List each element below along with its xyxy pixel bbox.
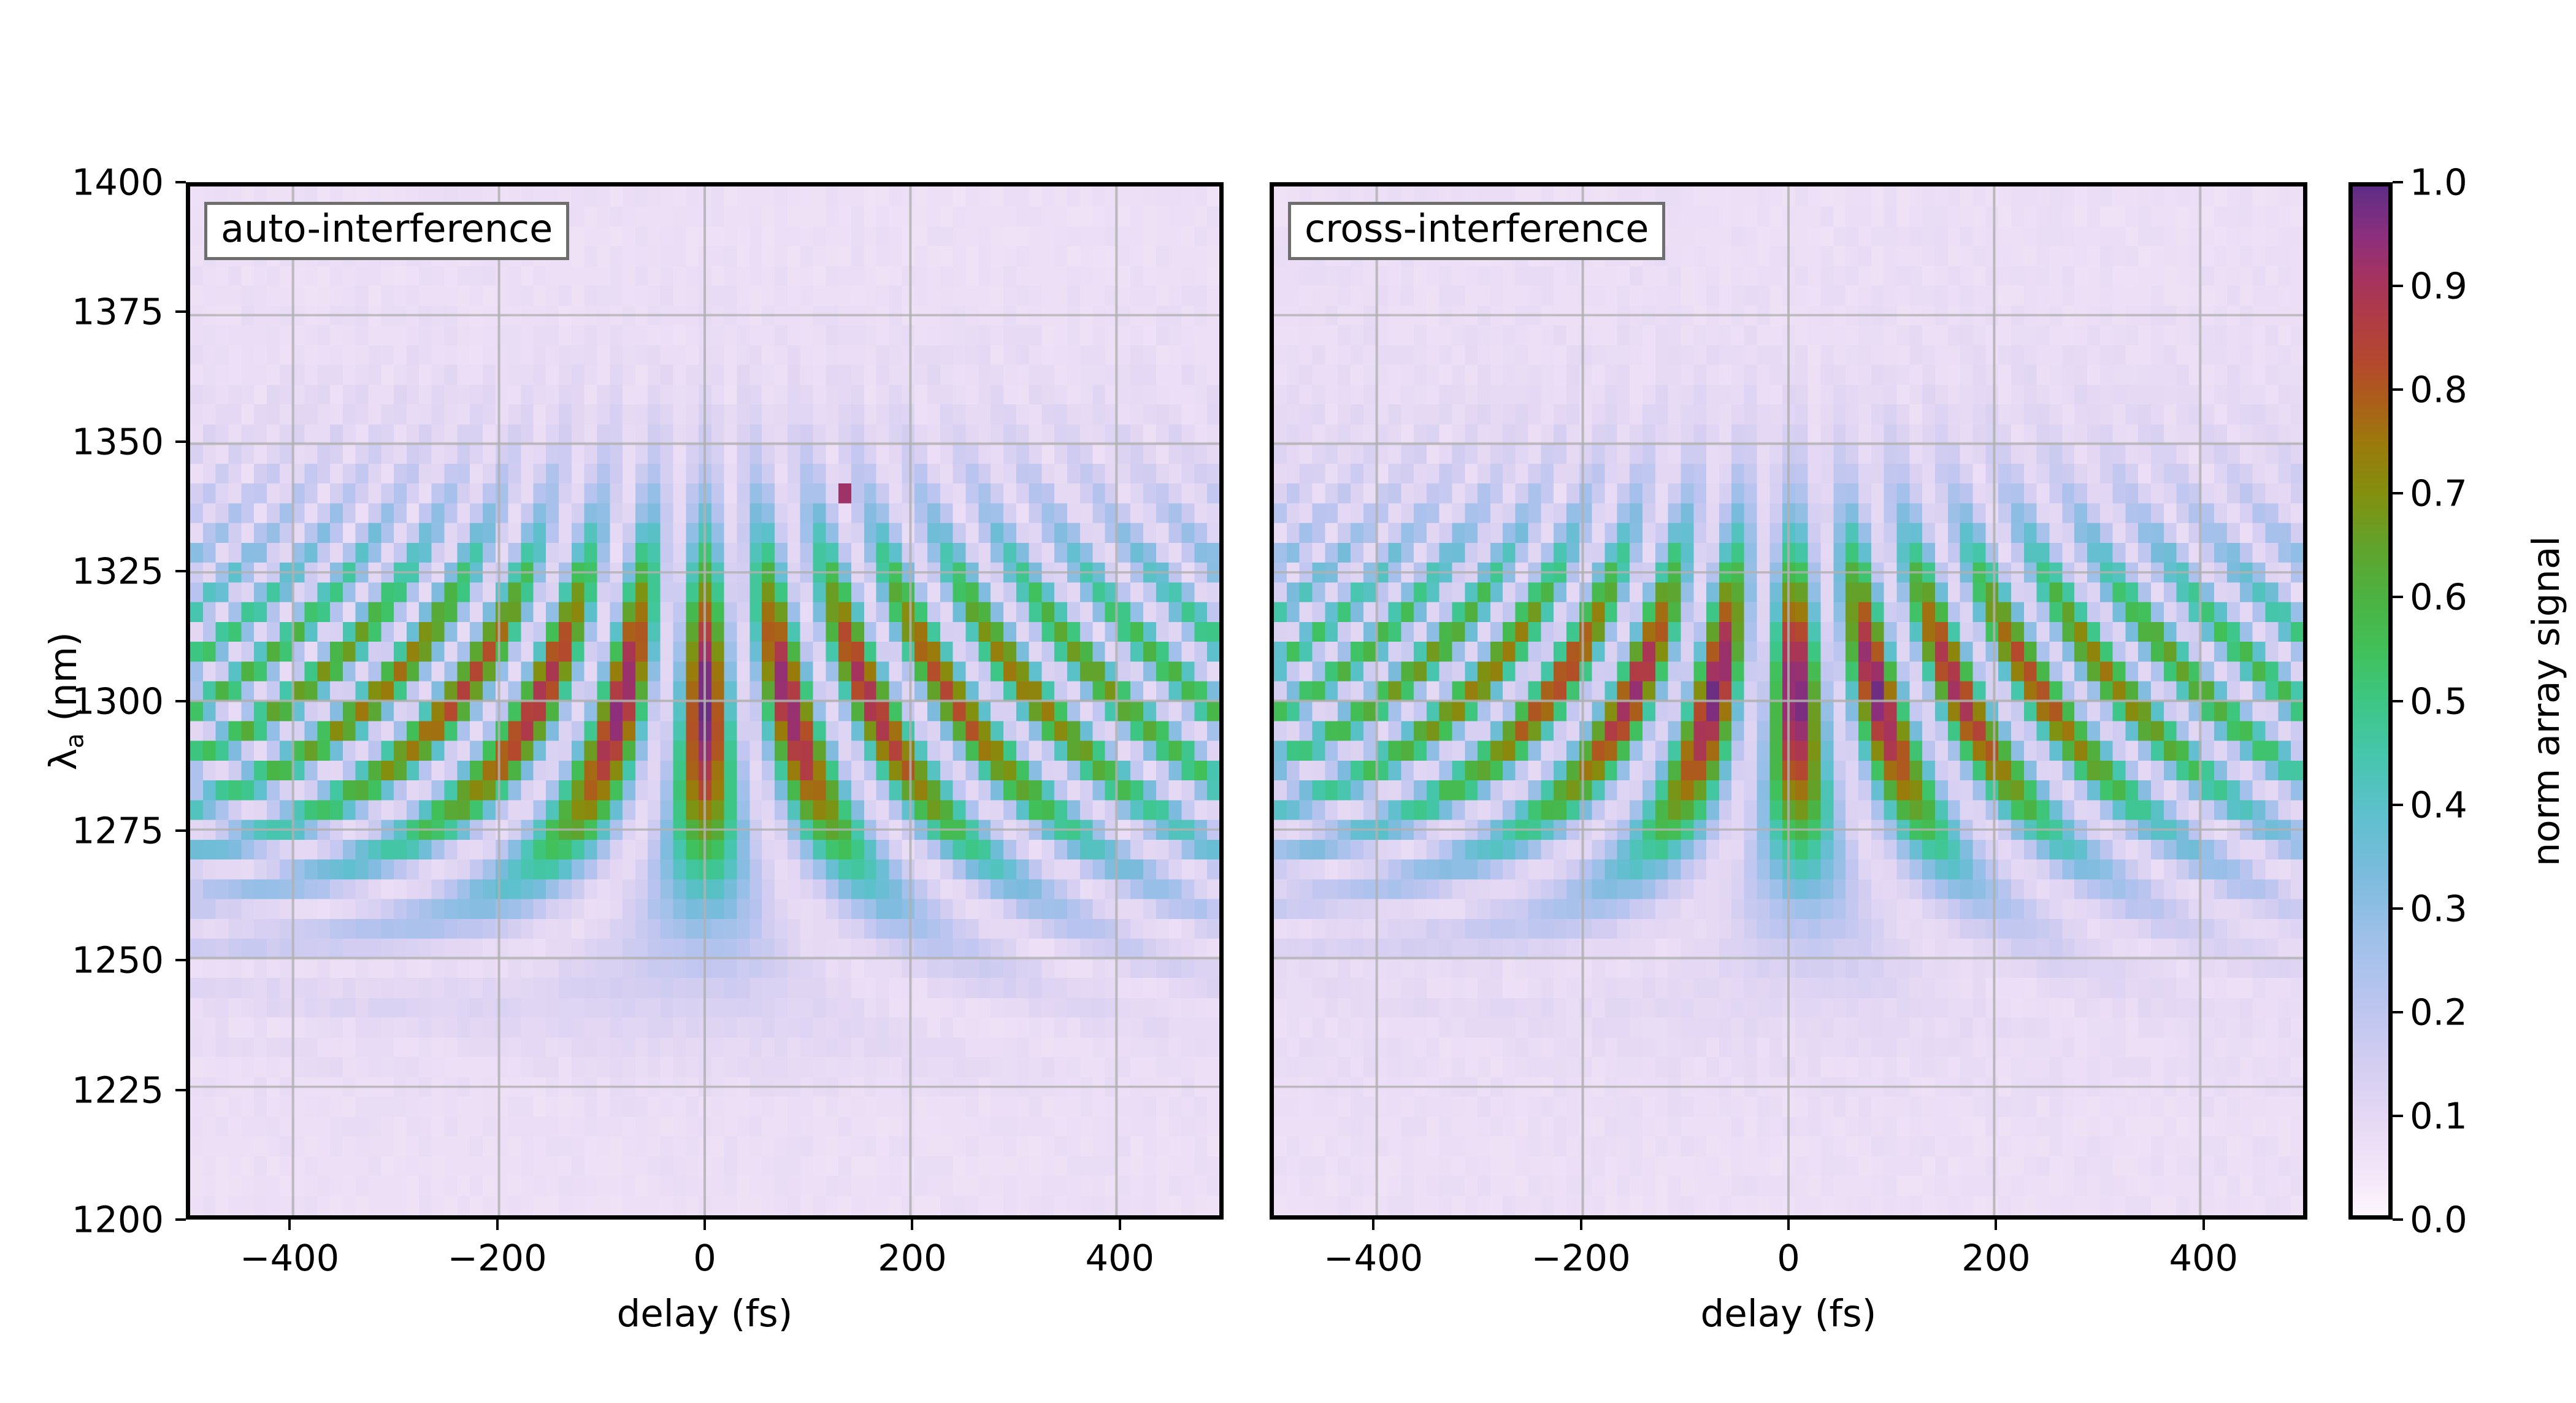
x-tick-1-0 [1372,1220,1374,1230]
colorbar-tick-label-2: 0.2 [2410,991,2467,1033]
y-tick-label-8: 1400 [72,161,164,204]
y-tick-label-3: 1275 [72,809,164,851]
colorbar-tick-label-6: 0.6 [2410,576,2467,618]
x-tick-0-0 [288,1220,291,1230]
x-tick-label-1-0: −400 [1324,1237,1423,1279]
colorbar-tick-label-4: 0.4 [2410,783,2467,826]
x-tick-label-0-0: −400 [240,1237,339,1279]
panel-label-auto-interference: auto-interference [204,202,569,260]
y-tick-label-6: 1350 [72,420,164,463]
colorbar-tick-5 [2393,700,2403,702]
colorbar-tick-label-9: 0.9 [2410,265,2467,307]
x-tick-label-1-1: −200 [1531,1237,1631,1279]
y-tick-4 [175,700,186,702]
x-tick-0-4 [1119,1220,1121,1230]
panel-label-cross-interference: cross-interference [1288,202,1665,260]
x-tick-label-0-4: 400 [1085,1237,1154,1279]
x-tick-0-1 [496,1220,499,1230]
colorbar-axis-title: norm array signal [2524,536,2568,866]
colorbar-tick-label-8: 0.8 [2410,369,2467,411]
x-tick-0-3 [911,1220,913,1230]
colorbar-tick-7 [2393,492,2403,494]
panel-cross-interference-axes [1270,182,2307,1220]
y-tick-8 [175,181,186,183]
y-tick-0 [175,1218,186,1221]
colorbar-tick-label-5: 0.5 [2410,680,2467,722]
y-tick-label-1: 1225 [72,1069,164,1111]
colorbar-tick-label-7: 0.7 [2410,472,2467,515]
y-tick-label-7: 1375 [72,291,164,333]
x-tick-label-0-1: −200 [448,1237,547,1279]
y-tick-6 [175,440,186,443]
y-tick-label-0: 1200 [72,1199,164,1241]
colorbar-tick-2 [2393,1011,2403,1013]
x-tick-1-2 [1787,1220,1790,1230]
heatmap-cross-interference [1274,186,2303,1215]
colorbar-tick-label-0: 0.0 [2410,1199,2467,1241]
x-tick-1-4 [2202,1220,2205,1230]
colorbar [2348,182,2393,1220]
colorbar-tick-9 [2393,285,2403,287]
x-tick-label-0-3: 200 [878,1237,947,1279]
x-tick-1-3 [1995,1220,1997,1230]
y-tick-2 [175,959,186,961]
y-axis-title-lambda: λ [42,748,85,770]
x-tick-label-1-4: 400 [2169,1237,2238,1279]
colorbar-tick-label-3: 0.3 [2410,887,2467,929]
x-tick-label-0-2: 0 [693,1237,716,1279]
colorbar-tick-0 [2393,1218,2403,1221]
y-tick-label-2: 1250 [72,939,164,982]
y-tick-3 [175,829,186,832]
y-tick-label-5: 1325 [72,550,164,593]
colorbar-tick-1 [2393,1115,2403,1117]
y-axis-title-subscript: a [61,733,89,748]
colorbar-tick-label-10: 1.0 [2410,161,2467,204]
colorbar-gradient [2353,186,2388,1215]
y-tick-7 [175,310,186,313]
figure-canvas: auto-interference cross-interference nor… [0,0,2576,1403]
colorbar-tick-label-1: 0.1 [2410,1094,2467,1137]
x-axis-title-auto: delay (fs) [617,1292,793,1336]
heatmap-auto-interference [190,186,1219,1215]
y-tick-label-4: 1300 [72,680,164,722]
colorbar-tick-8 [2393,388,2403,391]
x-tick-label-1-3: 200 [1961,1237,2031,1279]
panel-auto-interference-axes [186,182,1224,1220]
x-tick-1-1 [1580,1220,1582,1230]
colorbar-tick-6 [2393,596,2403,598]
colorbar-tick-3 [2393,907,2403,910]
colorbar-tick-4 [2393,804,2403,806]
y-tick-1 [175,1089,186,1091]
colorbar-tick-10 [2393,181,2403,183]
x-tick-label-1-2: 0 [1777,1237,1800,1279]
x-axis-title-cross: delay (fs) [1701,1292,1877,1336]
x-tick-0-2 [703,1220,706,1230]
y-tick-5 [175,570,186,572]
